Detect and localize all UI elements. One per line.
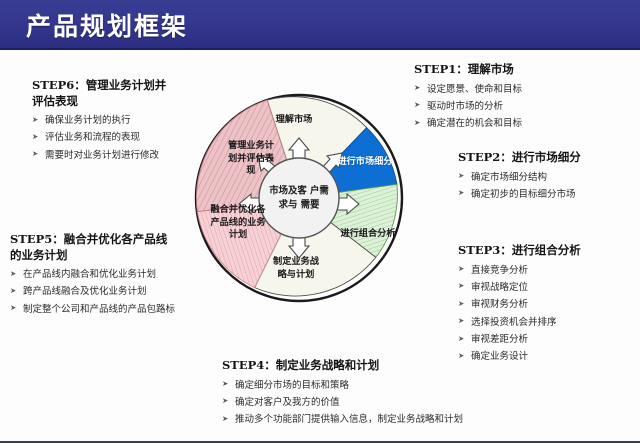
step3-bullets: 直接竞争分析 审视战略定位 审视财务分析 选择投资机会并排序 审视差距分析 确定… — [458, 263, 638, 365]
step4-bullets: 确定细分市场的目标和策略 确定对客户及我方的价值 推动多个功能部门提供输入信息，… — [222, 378, 512, 428]
step5-bullet: 跨产品线融合及优化业务计划 — [10, 284, 215, 299]
step1-bullet: 设定愿景、使命和目标 — [414, 82, 629, 97]
step2-heading: STEP2：进行市场细分 — [458, 150, 638, 166]
step4-heading: STEP4：制定业务战略和计划 — [222, 358, 512, 374]
step1-heading: STEP1：理解市场 — [414, 62, 629, 78]
step6-heading: STEP6：管理业务计划并 评估表现 — [32, 78, 222, 109]
wheel-svg — [193, 92, 405, 304]
slide-canvas: 产品规划框架 — [0, 0, 640, 443]
step2-bullet: 确定市场细分结构 — [458, 170, 638, 185]
step4-bullet: 确定细分市场的目标和策略 — [222, 378, 512, 393]
step3-bullet: 审视差距分析 — [458, 332, 638, 347]
step3-bullet: 直接竞争分析 — [458, 263, 638, 278]
step6-bullet: 需要时对业务计划进行修改 — [32, 148, 222, 163]
step3-bullet: 选择投资机会并排序 — [458, 315, 638, 330]
step1-block: STEP1：理解市场 设定愿景、使命和目标 驱动时市场的分析 确定潜在的机会和目… — [414, 62, 629, 134]
step6-bullets: 确保业务计划的执行 评估业务和流程的表现 需要时对业务计划进行修改 — [32, 113, 222, 163]
step6-block: STEP6：管理业务计划并 评估表现 确保业务计划的执行 评估业务和流程的表现 … — [32, 78, 222, 165]
step4-bullet: 确定对客户及我方的价值 — [222, 395, 512, 410]
step5-bullets: 在产品线内融合和优化业务计划 跨产品线融合及优化业务计划 制定整个公司和产品线的… — [10, 267, 215, 317]
step4-bullet: 推动多个功能部门提供输入信息，制定业务战略和计划 — [222, 412, 512, 427]
step1-bullet: 确定潜在的机会和目标 — [414, 116, 629, 131]
step5-bullet: 在产品线内融合和优化业务计划 — [10, 267, 215, 282]
title-bar: 产品规划框架 — [0, 0, 640, 50]
step6-bullet: 确保业务计划的执行 — [32, 113, 222, 128]
step5-block: STEP5：融合并优化各产品线 的业务计划 在产品线内融合和优化业务计划 跨产品… — [10, 232, 215, 319]
product-planning-wheel: 市场及客 户需求与 需要 理解市场 进行市场细分 进行组合分析 制定业务战 略与… — [193, 92, 405, 304]
step6-bullet: 评估业务和流程的表现 — [32, 130, 222, 145]
step2-bullet: 确定初步的目标细分市场 — [458, 187, 638, 202]
step4-block: STEP4：制定业务战略和计划 确定细分市场的目标和策略 确定对客户及我方的价值… — [222, 358, 512, 430]
wheel-hub[interactable] — [259, 158, 339, 238]
step3-bullet: 审视财务分析 — [458, 297, 638, 312]
step3-heading: STEP3：进行组合分析 — [458, 243, 638, 259]
step5-heading: STEP5：融合并优化各产品线 的业务计划 — [10, 232, 215, 263]
page-title: 产品规划框架 — [26, 7, 188, 43]
step1-bullet: 驱动时市场的分析 — [414, 99, 629, 114]
step1-bullets: 设定愿景、使命和目标 驱动时市场的分析 确定潜在的机会和目标 — [414, 82, 629, 132]
step2-bullets: 确定市场细分结构 确定初步的目标细分市场 — [458, 170, 638, 203]
step3-bullet: 审视战略定位 — [458, 280, 638, 295]
step2-block: STEP2：进行市场细分 确定市场细分结构 确定初步的目标细分市场 — [458, 150, 638, 204]
step3-block: STEP3：进行组合分析 直接竞争分析 审视战略定位 审视财务分析 选择投资机会… — [458, 243, 638, 367]
step5-bullet: 制定整个公司和产品线的产品包路标 — [10, 302, 215, 317]
